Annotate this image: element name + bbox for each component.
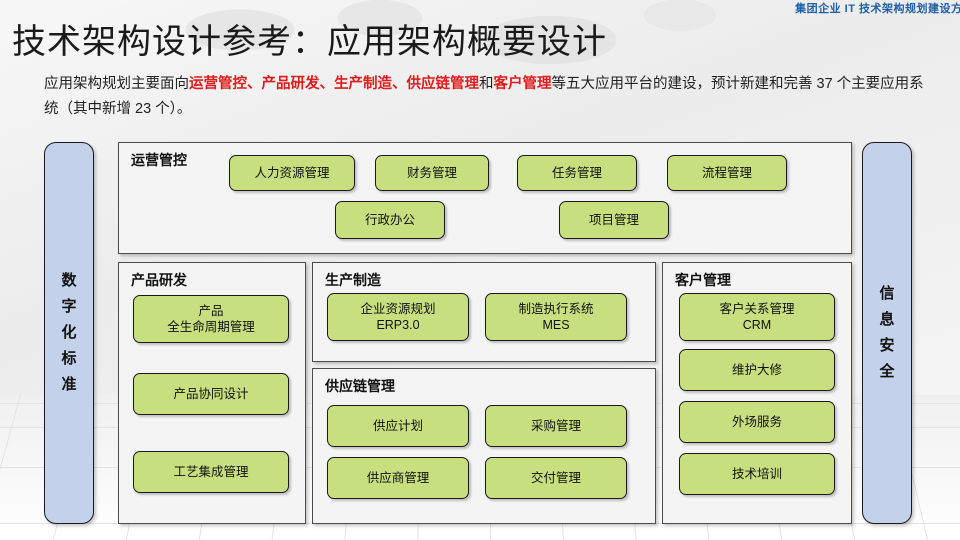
chip-product-collaborative-design[interactable]: 产品协同设计 [133, 373, 289, 415]
chip-process-management[interactable]: 流程管理 [667, 155, 787, 191]
chip-procurement-management[interactable]: 采购管理 [485, 405, 627, 447]
panel-product-rnd: 产品研发 产品 全生命周期管理 产品协同设计 工艺集成管理 [118, 262, 306, 524]
chip-crm[interactable]: 客户关系管理 CRM [679, 293, 835, 341]
panel-supply-chain-management: 供应链管理 供应计划 采购管理 供应商管理 交付管理 [312, 368, 656, 524]
chip-delivery-management[interactable]: 交付管理 [485, 457, 627, 499]
chip-process-integration-management[interactable]: 工艺集成管理 [133, 451, 289, 493]
chip-supply-planning[interactable]: 供应计划 [327, 405, 469, 447]
pillar-information-security-label: 信息安全 [877, 281, 897, 385]
panel-supply-chain-management-title: 供应链管理 [325, 376, 395, 396]
panel-customer-management: 客户管理 客户关系管理 CRM 维护大修 外场服务 技术培训 [662, 262, 852, 524]
chip-product-lifecycle-management[interactable]: 产品 全生命周期管理 [133, 295, 289, 343]
panel-manufacturing: 生产制造 企业资源规划 ERP3.0 制造执行系统 MES [312, 262, 656, 362]
application-architecture-diagram: 数字化标准 信息安全 运营管控 人力资源管理 财务管理 任务管理 流程管理 行政… [0, 136, 960, 532]
lead-part-1: 应用架构规划主要面向 [44, 76, 189, 92]
chip-field-service[interactable]: 外场服务 [679, 401, 835, 443]
chip-maintenance-overhaul[interactable]: 维护大修 [679, 349, 835, 391]
pillar-information-security[interactable]: 信息安全 [862, 142, 912, 524]
panel-operations-management: 运营管控 人力资源管理 财务管理 任务管理 流程管理 行政办公 项目管理 [118, 142, 852, 254]
chip-mes[interactable]: 制造执行系统 MES [485, 293, 627, 341]
header-title: 集团企业 IT 技术架构规划建设方案 [795, 0, 960, 16]
chip-finance-management[interactable]: 财务管理 [375, 155, 489, 191]
page-title: 技术架构设计参考：应用架构概要设计 [12, 14, 607, 63]
panel-operations-management-title: 运营管控 [131, 150, 187, 170]
lead-highlight-2: 客户管理 [494, 76, 552, 92]
lead-part-2: 和 [479, 76, 494, 92]
chip-supplier-management[interactable]: 供应商管理 [327, 457, 469, 499]
pillar-digital-standards[interactable]: 数字化标准 [44, 142, 94, 524]
chip-project-management[interactable]: 项目管理 [559, 201, 669, 239]
chip-task-management[interactable]: 任务管理 [517, 155, 637, 191]
chip-hr-management[interactable]: 人力资源管理 [229, 155, 355, 191]
chip-erp[interactable]: 企业资源规划 ERP3.0 [327, 293, 469, 341]
lead-paragraph: 应用架构规划主要面向运营管控、产品研发、生产制造、供应链管理和客户管理等五大应用… [44, 72, 924, 122]
chip-technical-training[interactable]: 技术培训 [679, 453, 835, 495]
panel-manufacturing-title: 生产制造 [325, 270, 381, 290]
panel-product-rnd-title: 产品研发 [131, 270, 187, 290]
panel-customer-management-title: 客户管理 [675, 270, 731, 290]
pillar-digital-standards-label: 数字化标准 [59, 268, 79, 398]
lead-highlight-1: 运营管控、产品研发、生产制造、供应链管理 [189, 76, 479, 92]
chip-administrative-office[interactable]: 行政办公 [335, 201, 445, 239]
